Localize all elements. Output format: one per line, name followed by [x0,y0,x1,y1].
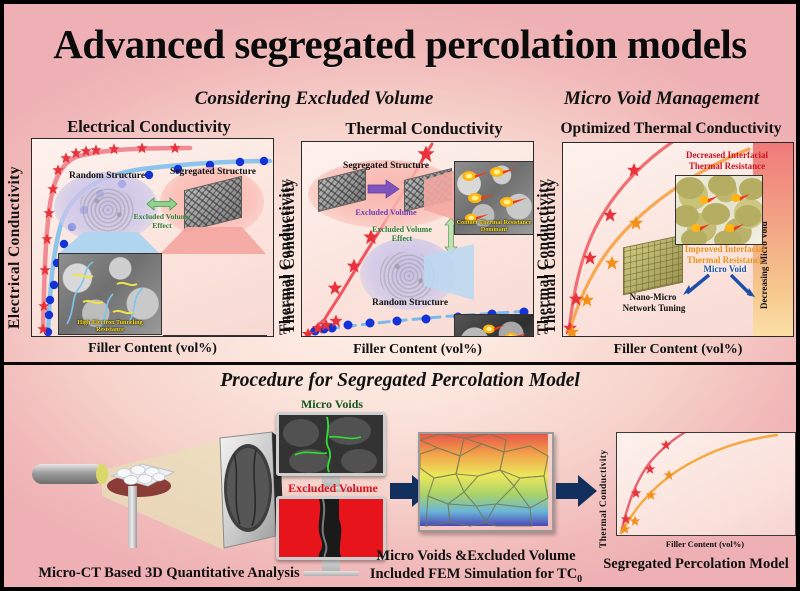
chart-optimized-thermal-conductivity: Decreasing Micro Void Nano-Micro Network… [562,142,794,337]
subhead-considering-excluded-volume: Considering Excluded Volume [154,88,474,110]
panel1-y-axis-label: Electrical Conductivity [6,144,24,329]
panel-heading-thermal: Thermal Conductivity [304,119,544,139]
label-tuning-line2: Network Tuning [609,304,699,314]
chart-electrical-conductivity: Random Structure Segregated Structure Ex… [31,138,274,337]
caption-fem-line2-text: Included FEM Simulation for TC [370,566,577,582]
caption-fem-subscript: 0 [577,574,582,585]
caption-fem-line2: Included FEM Simulation for TC0 [344,567,608,585]
mini-plot [617,433,795,535]
mini-orange-curve [621,435,777,533]
mini-orange-stars [620,470,674,534]
procedure-heading: Procedure for Segregated Percolation Mod… [4,370,796,392]
section-divider [4,362,796,365]
caption-high-electron-tunneling: High Electron Tunneling Resistance [59,320,161,333]
label-excluded-volume: Excluded Volume [334,208,438,217]
chart-thermal-conductivity: Segregated Structure Excluded Volume Exc… [301,141,534,337]
micrograph-interfacial-thermal: Interfacial Thermal Resistance Dominant [454,314,534,337]
label-excluded-volume-monitor: Excluded Volume [270,482,396,495]
monitor-micro-voids [276,412,386,492]
micro-void-arrow-left-icon [681,273,711,295]
panel-heading-optimized: Optimized Thermal Conductivity [538,120,800,138]
micrograph-random: High Electron Tunneling Resistance [58,253,162,335]
graphical-abstract: Advanced segregated percolation models C… [0,0,800,591]
panel2-x-axis-label: Filler Content (vol%) [301,342,534,358]
caption-high-line2: Resistance [96,326,124,333]
label-random-structure: Random Structure [52,171,162,181]
label-improved-line1: Improved Interfacial [669,245,781,255]
page-title: Advanced segregated percolation models [4,20,796,68]
micrograph-contact-thermal: Contact Thermal Resistance Dominant [454,161,534,235]
panel3-x-axis-label: Filler Content (vol%) [562,342,794,358]
panel-heading-electrical: Electrical Conductivity [24,117,274,137]
random-network-cloud [80,187,136,233]
caption-fem-line1: Micro Voids &Excluded Volume [344,549,608,565]
label-decreased-line2: Thermal Resistance [671,162,783,172]
micrograph-decreased-interfacial [675,175,763,245]
micro-void-arrow-right-icon [727,273,757,297]
funnel-to-bottom-micro [424,242,476,304]
micrograph-segregated: Low Electron Tunneling Resistance [163,335,267,337]
label-micro-voids: Micro Voids [272,398,392,411]
fem-simulation-image [418,432,554,532]
funnel-left [56,232,166,254]
excluded-volume-double-arrow-icon [147,195,177,213]
chart-segregated-percolation-model [616,432,796,536]
panel3-y-axis-label: Thermal Conductivity [542,144,560,334]
panel2-y-axis-label: Thermal Conductivity [281,144,299,334]
mini-chart-x-label: Filler Content (vol%) [616,540,794,549]
caption-contact-line2: Dominant [481,226,507,233]
funnel-right [158,227,270,254]
micro-ct-illustration [24,424,284,564]
label-segregated-structure: Segregated Structure [158,167,268,177]
panel1-x-axis-label: Filler Content (vol%) [31,341,274,357]
mini-chart-y-label: Thermal Conductivity [599,444,609,548]
label-decreased-line1: Decreased Interfacial [671,151,783,161]
subhead-micro-void-management: Micro Void Management [519,88,800,110]
arrow-step2-to-step3-icon [556,474,598,508]
caption-contact-thermal: Contact Thermal Resistance Dominant [455,220,533,233]
caption-segregated-percolation-model: Segregated Percolation Model [588,557,800,573]
excluded-volume-arrow-icon [368,179,400,199]
